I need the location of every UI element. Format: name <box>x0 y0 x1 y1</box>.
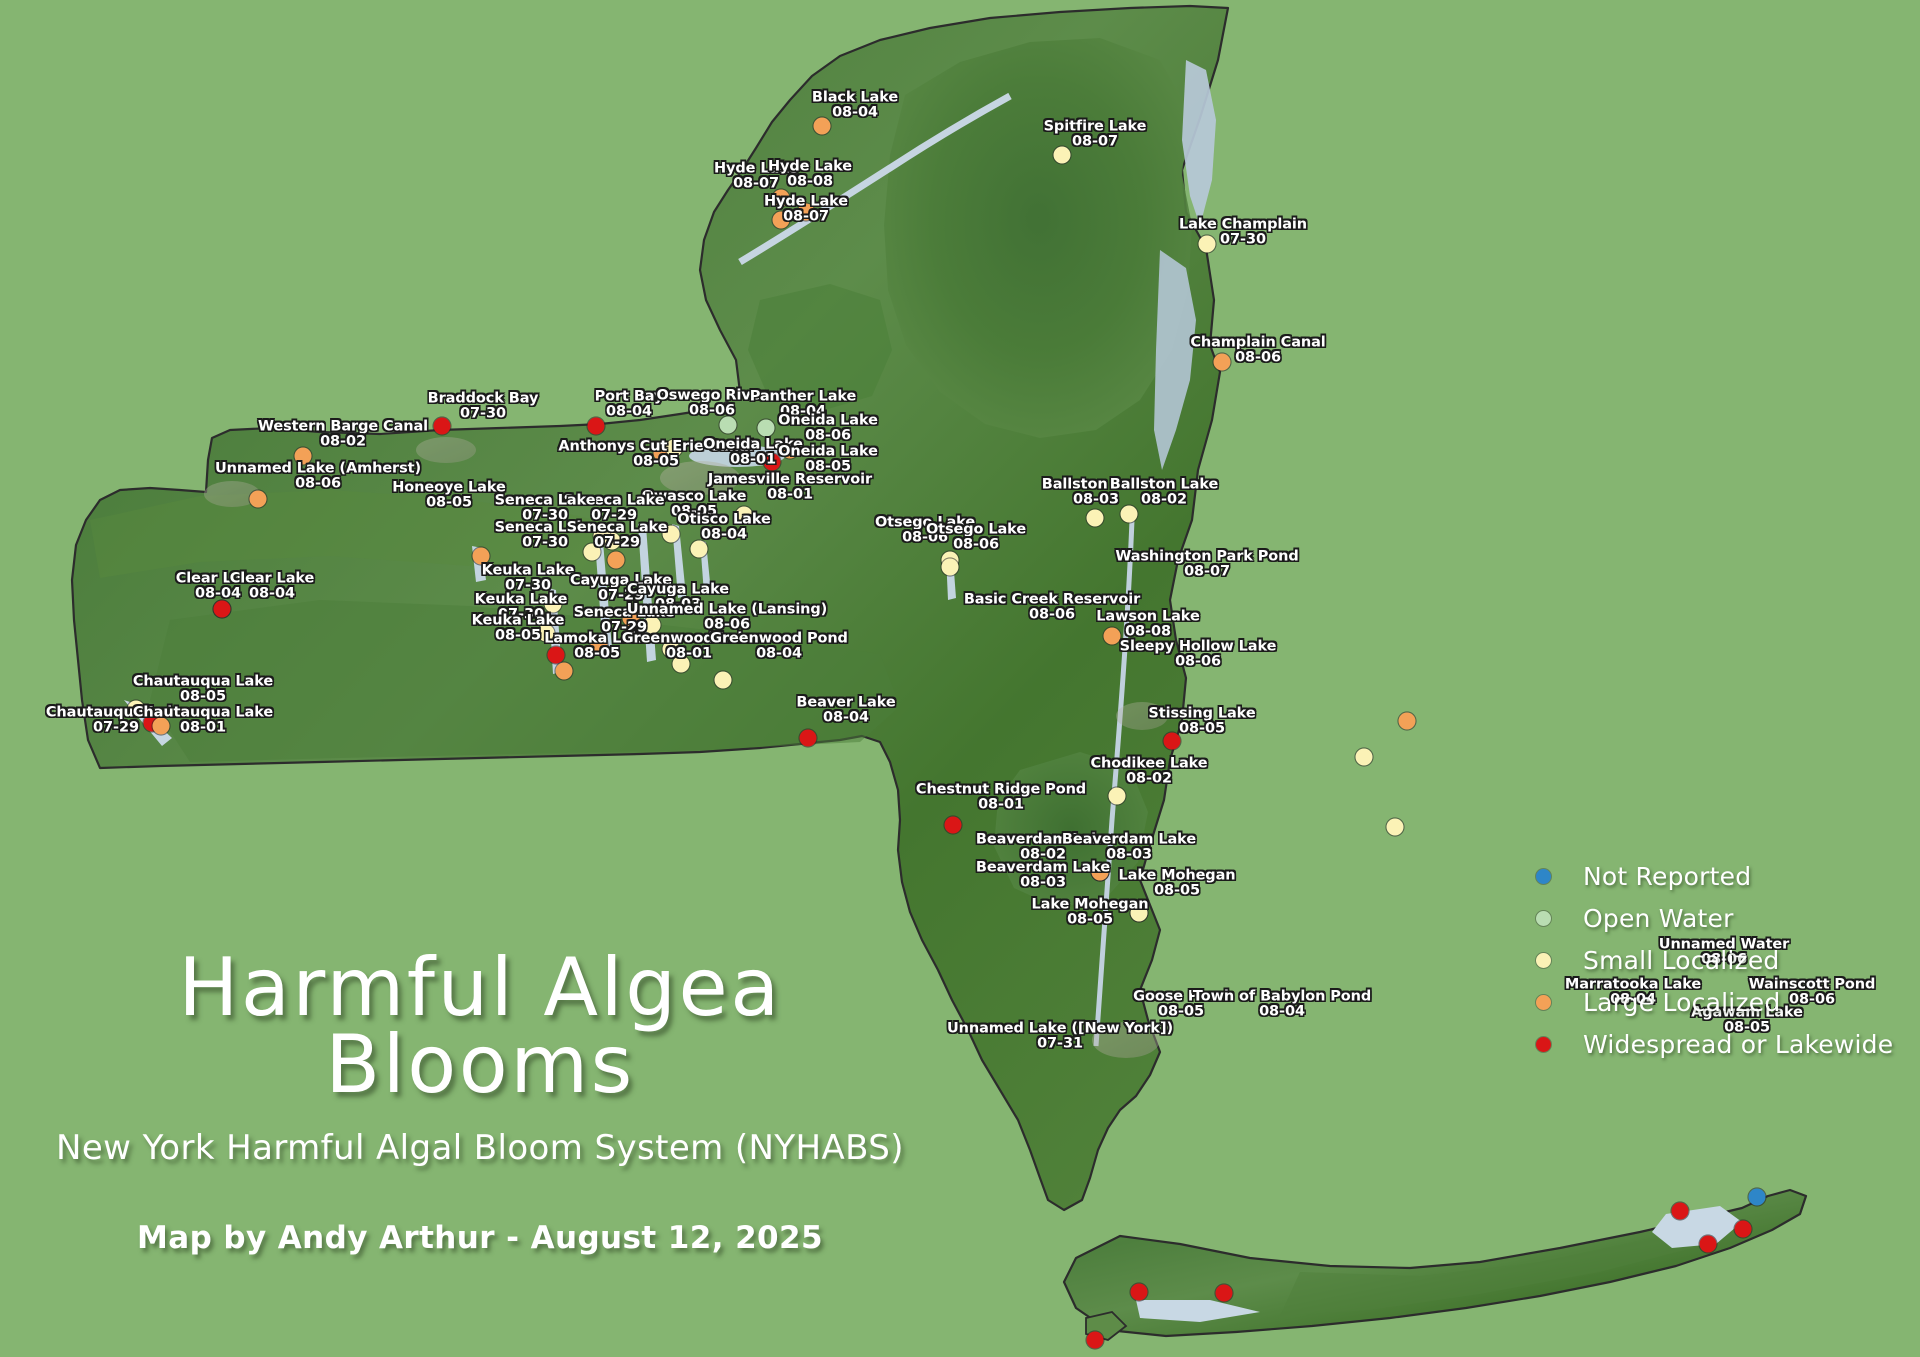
bloom-marker[interactable] <box>798 204 815 221</box>
bloom-marker[interactable] <box>1121 506 1138 523</box>
bloom-marker[interactable] <box>1164 733 1181 750</box>
legend-item-open-water[interactable]: Open Water <box>1536 897 1893 939</box>
bloom-marker[interactable] <box>1131 905 1148 922</box>
long-island-landmass <box>1064 1190 1806 1336</box>
legend-item-not-reported[interactable]: Not Reported <box>1536 855 1893 897</box>
bloom-marker[interactable] <box>434 418 451 435</box>
bloom-marker[interactable] <box>1054 147 1071 164</box>
bloom-marker[interactable] <box>1672 1203 1689 1220</box>
bloom-marker[interactable] <box>673 656 690 673</box>
legend-item-widespread[interactable]: Widespread or Lakewide <box>1536 1023 1893 1065</box>
bloom-marker[interactable] <box>800 730 817 747</box>
legend-label-large-localized: Large Localized <box>1583 988 1780 1017</box>
bloom-marker[interactable] <box>773 212 790 229</box>
bloom-marker[interactable] <box>663 526 680 543</box>
bloom-marker[interactable] <box>691 541 708 558</box>
bloom-marker[interactable] <box>1700 1236 1717 1253</box>
bloom-marker[interactable] <box>1109 788 1126 805</box>
bloom-marker[interactable] <box>945 817 962 834</box>
bloom-marker[interactable] <box>814 118 831 135</box>
legend-swatch-not-reported-icon <box>1536 869 1551 884</box>
bloom-marker[interactable] <box>1356 749 1373 766</box>
bloom-marker[interactable] <box>1387 819 1404 836</box>
bloom-marker[interactable] <box>663 641 680 658</box>
bloom-marker[interactable] <box>584 544 601 561</box>
bloom-marker[interactable] <box>1131 1284 1148 1301</box>
bloom-marker[interactable] <box>764 454 781 471</box>
bloom-marker[interactable] <box>666 440 683 457</box>
bloom-marker[interactable] <box>473 548 490 565</box>
legend-item-small-localized[interactable]: Small Localized <box>1536 939 1893 981</box>
map-canvas: Black Lake08-04Spitfire Lake08-07Hyde La… <box>0 0 1920 1357</box>
bloom-marker[interactable] <box>295 448 312 465</box>
bloom-marker[interactable] <box>1092 864 1109 881</box>
bloom-marker[interactable] <box>736 507 753 524</box>
legend-swatch-open-water-icon <box>1536 911 1551 926</box>
legend-swatch-small-localized-icon <box>1536 953 1551 968</box>
legend-label-small-localized: Small Localized <box>1583 946 1780 975</box>
new-york-state-satellite-basemap <box>0 0 1920 1357</box>
bloom-marker[interactable] <box>591 636 608 653</box>
legend: Not ReportedOpen WaterSmall LocalizedLar… <box>1536 855 1893 1065</box>
legend-label-not-reported: Not Reported <box>1583 862 1751 891</box>
bloom-marker[interactable] <box>1749 1189 1766 1206</box>
bloom-marker[interactable] <box>1735 1221 1752 1238</box>
legend-swatch-large-localized-icon <box>1536 995 1551 1010</box>
bloom-marker[interactable] <box>773 190 790 207</box>
bloom-marker[interactable] <box>758 420 775 437</box>
bloom-marker[interactable] <box>1104 628 1121 645</box>
bloom-marker[interactable] <box>548 647 565 664</box>
bloom-marker[interactable] <box>1216 1285 1233 1302</box>
bloom-marker[interactable] <box>715 672 732 689</box>
legend-label-open-water: Open Water <box>1583 904 1734 933</box>
bloom-marker[interactable] <box>153 718 170 735</box>
bloom-marker[interactable] <box>942 559 959 576</box>
bloom-marker[interactable] <box>250 491 267 508</box>
bloom-marker[interactable] <box>545 596 562 613</box>
bloom-marker[interactable] <box>644 617 661 634</box>
bloom-marker[interactable] <box>1399 713 1416 730</box>
bloom-marker[interactable] <box>1214 354 1231 371</box>
bloom-marker[interactable] <box>720 417 737 434</box>
bloom-marker[interactable] <box>594 528 611 545</box>
bloom-marker[interactable] <box>588 418 605 435</box>
bloom-marker[interactable] <box>1087 1332 1104 1349</box>
bloom-marker[interactable] <box>128 701 145 718</box>
legend-item-large-localized[interactable]: Large Localized <box>1536 981 1893 1023</box>
legend-label-widespread: Widespread or Lakewide <box>1583 1030 1893 1059</box>
legend-swatch-widespread-icon <box>1536 1037 1551 1052</box>
bloom-marker[interactable] <box>1087 510 1104 527</box>
bloom-marker[interactable] <box>608 552 625 569</box>
bloom-marker[interactable] <box>538 625 555 642</box>
bloom-marker[interactable] <box>623 610 640 627</box>
bloom-marker[interactable] <box>214 601 231 618</box>
bloom-marker[interactable] <box>556 663 573 680</box>
bloom-marker[interactable] <box>782 442 799 459</box>
bloom-marker[interactable] <box>1199 236 1216 253</box>
